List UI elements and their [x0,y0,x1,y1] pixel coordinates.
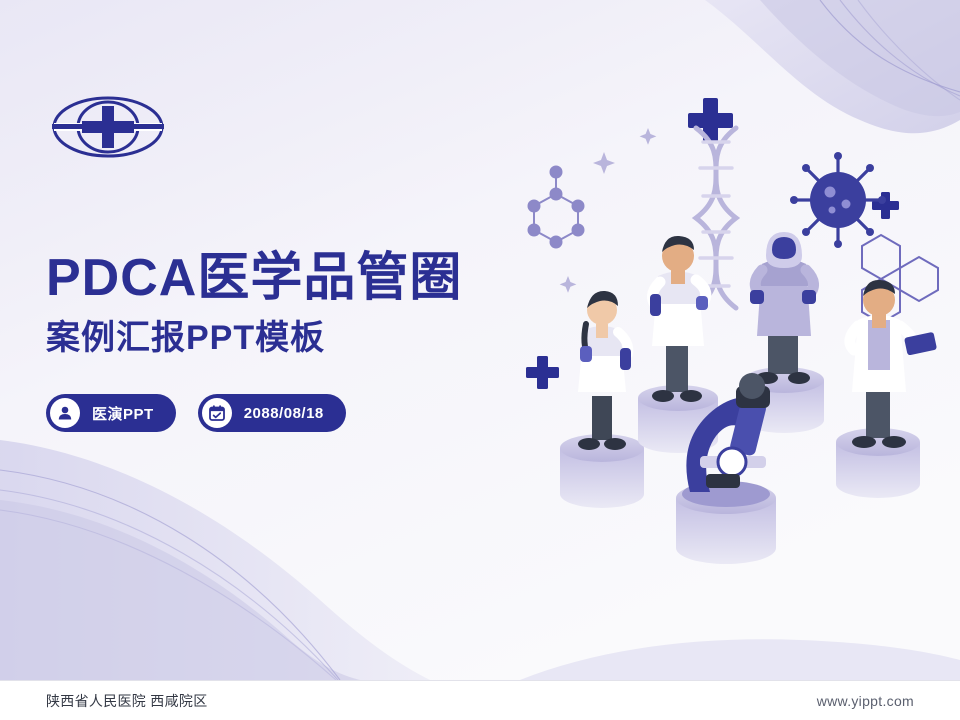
calendar-icon [202,398,232,428]
scientist-male-with-test-tube [650,236,708,402]
slide-footer: 陕西省人民医院 西咸院区 www.yippt.com [0,680,960,720]
medical-cross-bottom [526,356,559,389]
medical-cross-small [872,192,899,219]
molecule-structure [529,167,584,248]
footer-organization: 陕西省人民医院 西咸院区 [46,691,208,711]
meta-pill-row: 医演PPT 2088/08/18 [46,394,346,432]
presentation-slide: PDCA医学品管圈 案例汇报PPT模板 医演PPT [0,0,960,720]
date-pill[interactable]: 2088/08/18 [198,394,346,432]
slide-canvas: PDCA医学品管圈 案例汇报PPT模板 医演PPT [0,0,960,680]
page-subtitle: 案例汇报PPT模板 [46,318,325,359]
author-pill-label: 医演PPT [92,403,154,424]
date-pill-label: 2088/08/18 [244,405,324,422]
footer-website: www.yippt.com [817,693,914,709]
author-pill[interactable]: 医演PPT [46,394,176,432]
virus-cell [790,152,886,248]
hospital-cross-logo [52,96,164,158]
page-title: PDCA医学品管圈 [46,250,462,307]
scientist-in-hazmat-suit [750,232,816,384]
user-icon [50,398,80,428]
scientist-female-with-test-tube [578,291,631,450]
medical-research-team-illustration [500,80,960,580]
